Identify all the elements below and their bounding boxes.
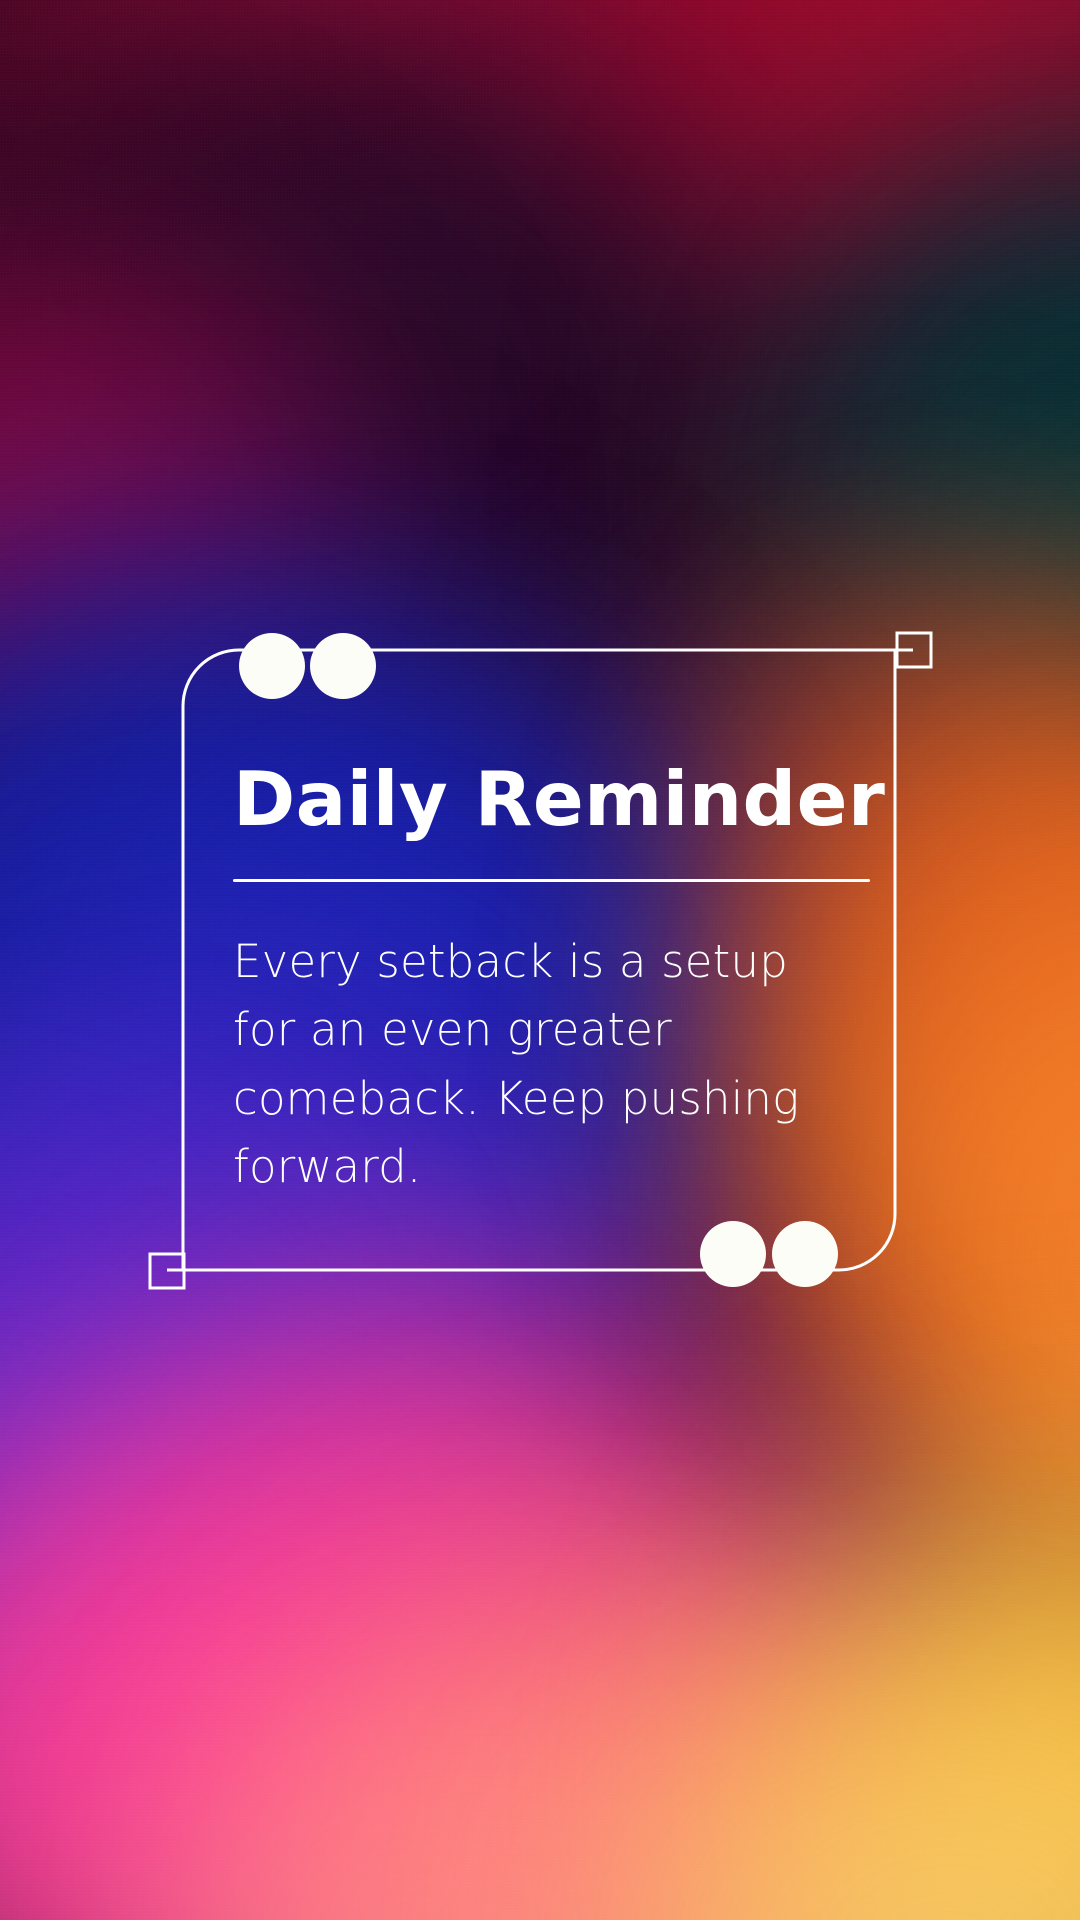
bottom-right-circle-one [700, 1221, 766, 1287]
poster-canvas: Daily Reminder Every setback is a setup … [0, 0, 1080, 1920]
bottom-right-circle-two [772, 1221, 838, 1287]
reminder-message: Every setback is a setup for an even gre… [233, 928, 833, 1202]
title-divider [233, 879, 870, 882]
page-title: Daily Reminder [233, 760, 873, 839]
top-left-circle-one [239, 633, 305, 699]
card-content: Daily Reminder Every setback is a setup … [233, 760, 873, 1201]
top-left-circle-two [310, 633, 376, 699]
